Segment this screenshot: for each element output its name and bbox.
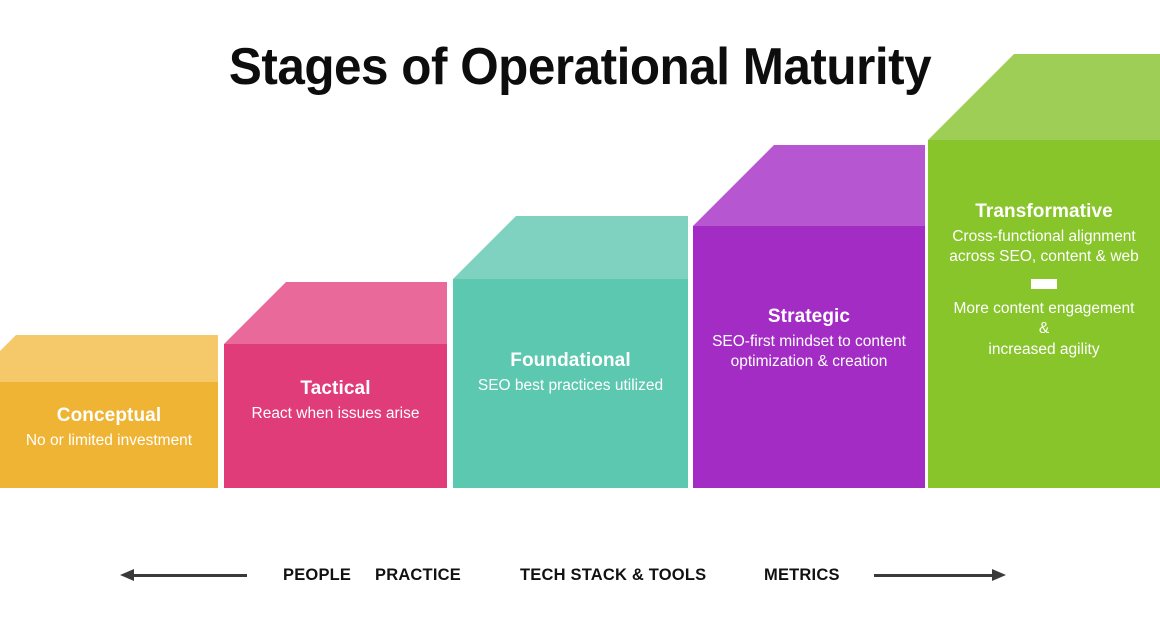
left-arrow-icon [133, 574, 247, 577]
right-arrow-icon [874, 574, 993, 577]
step-transformative[interactable]: Transformative Cross-functional alignmen… [928, 54, 1160, 488]
step-description: SEO best practices utilized [461, 376, 680, 396]
axis-label-tech-stack-tools: TECH STACK & TOOLS [520, 564, 706, 586]
step-text-strategic: Strategic SEO-first mindset to content o… [693, 306, 925, 373]
step-title: Tactical [232, 378, 439, 401]
step-title: Conceptual [8, 405, 210, 428]
step-description: SEO-first mindset to content optimizatio… [701, 332, 917, 373]
equals-icon [1031, 279, 1057, 289]
axis-label-practice: PRACTICE [375, 564, 461, 586]
step-text-tactical: Tactical React when issues arise [224, 378, 447, 424]
step-title: Foundational [461, 350, 680, 373]
staircase-chart: Conceptual No or limited investment Tact… [0, 0, 1160, 560]
step-text-transformative: Transformative Cross-functional alignmen… [928, 201, 1160, 360]
step-description-secondary: More content engagement&increased agilit… [936, 299, 1152, 360]
axis-label-metrics: METRICS [764, 564, 840, 586]
step-description: React when issues arise [232, 404, 439, 424]
axis-label-people: PEOPLE [283, 564, 351, 586]
step-description: Cross-functional alignmentacross SEO, co… [936, 227, 1152, 268]
infographic-canvas: Stages of Operational Maturity Conceptua… [0, 0, 1160, 618]
step-conceptual[interactable]: Conceptual No or limited investment [0, 335, 218, 488]
step-description: No or limited investment [8, 431, 210, 451]
step-text-conceptual: Conceptual No or limited investment [0, 405, 218, 451]
step-text-foundational: Foundational SEO best practices utilized [453, 350, 688, 396]
step-tactical[interactable]: Tactical React when issues arise [224, 282, 447, 488]
step-title: Strategic [701, 306, 917, 329]
progression-axis: PEOPLE PRACTICE TECH STACK & TOOLS METRI… [0, 564, 1160, 600]
step-strategic[interactable]: Strategic SEO-first mindset to content o… [693, 145, 925, 488]
step-title: Transformative [936, 201, 1152, 224]
step-foundational[interactable]: Foundational SEO best practices utilized [453, 216, 688, 488]
